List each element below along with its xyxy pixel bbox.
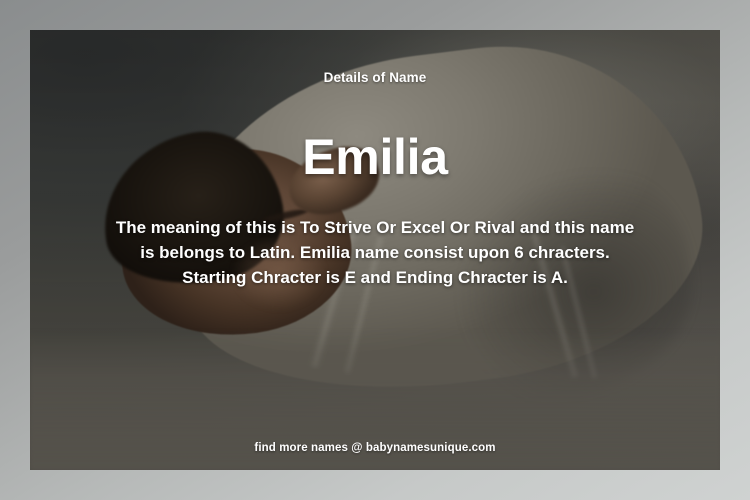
text-overlay: Details of Name Emilia The meaning of th… — [30, 30, 720, 470]
page-title: Details of Name — [30, 70, 720, 85]
baby-photo: Details of Name Emilia The meaning of th… — [30, 30, 720, 470]
baby-name-heading: Emilia — [30, 132, 720, 182]
name-description: The meaning of this is To Strive Or Exce… — [108, 215, 642, 290]
name-detail-card: Details of Name Emilia The meaning of th… — [0, 0, 750, 500]
site-credit: find more names @ babynamesunique.com — [30, 442, 720, 454]
